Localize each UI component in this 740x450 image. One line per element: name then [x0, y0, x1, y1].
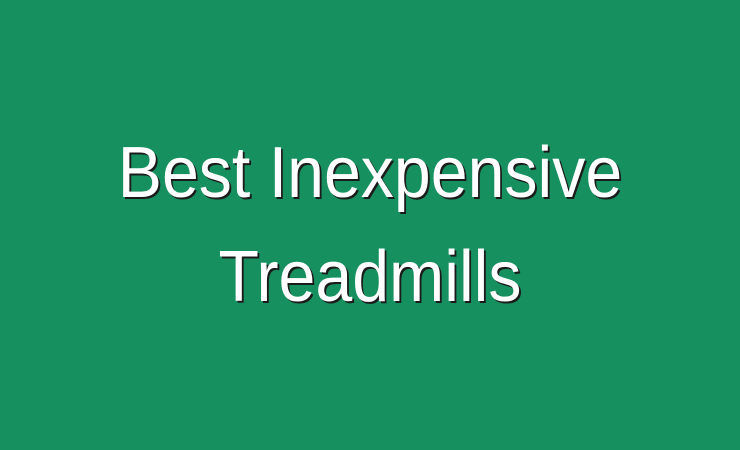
placeholder-banner: Best Inexpensive Treadmills	[0, 0, 740, 450]
banner-title: Best Inexpensive Treadmills	[30, 121, 711, 329]
